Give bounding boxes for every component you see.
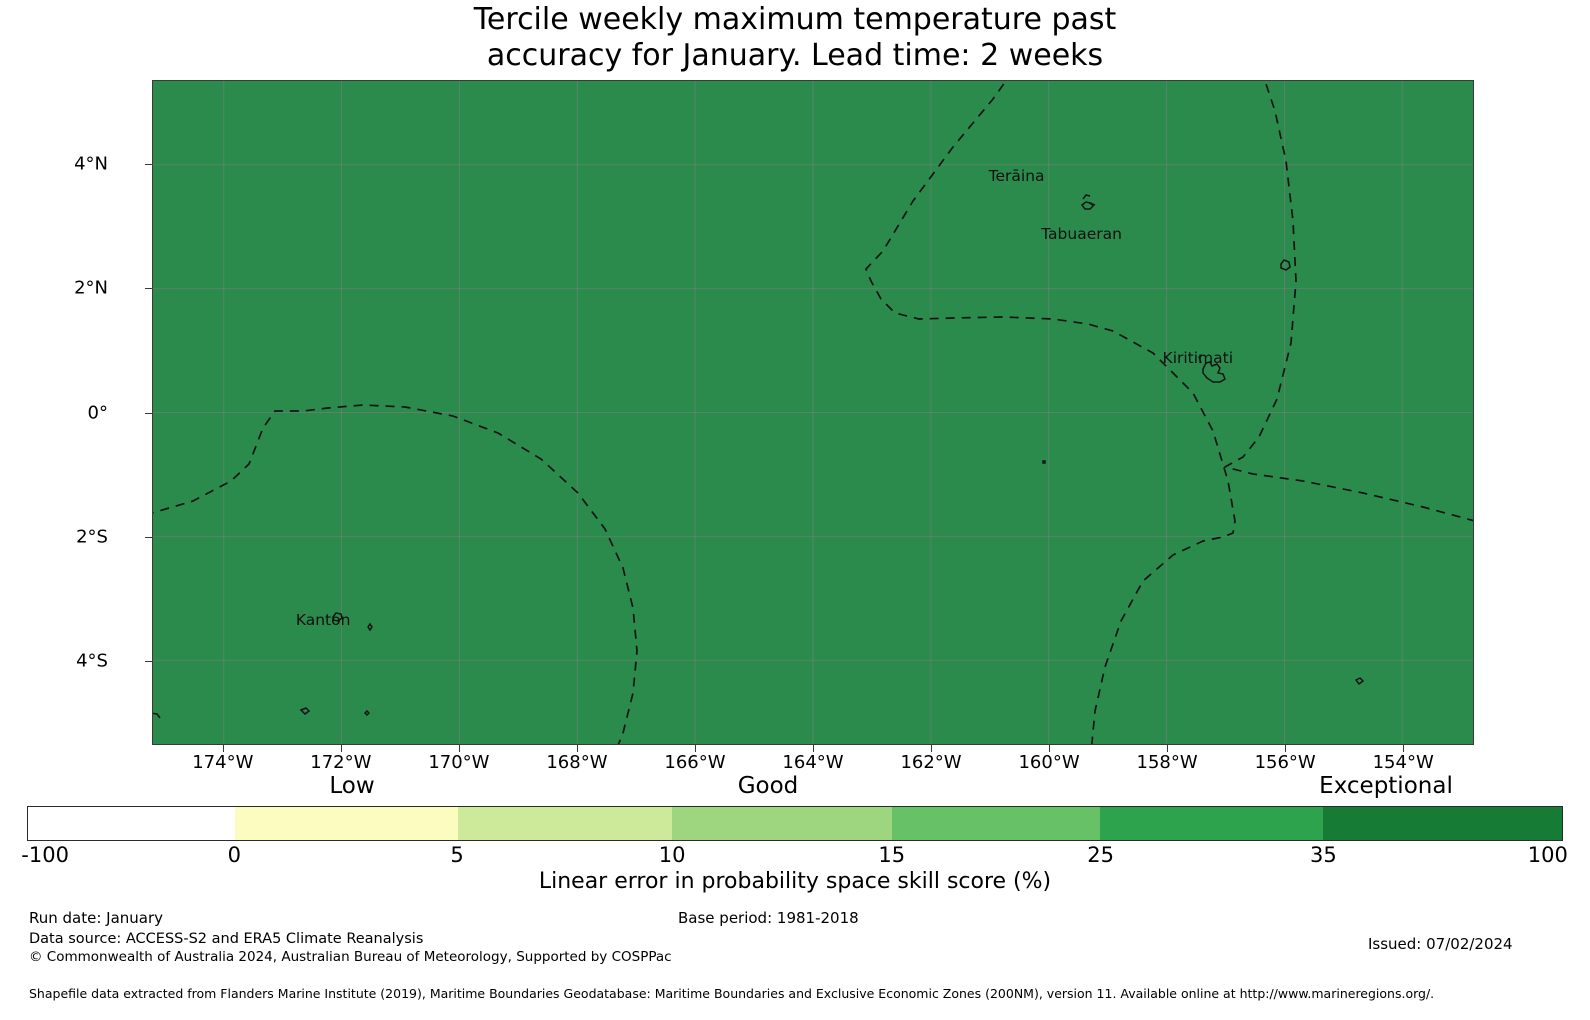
place-label: Kanton — [296, 611, 351, 629]
footer-data-source: Data source: ACCESS-S2 and ERA5 Climate … — [29, 931, 423, 947]
colorbar-segment[interactable] — [892, 807, 1101, 840]
colorbar-category-label: Low — [329, 773, 374, 799]
colorbar-segment[interactable] — [235, 807, 457, 840]
colorbar-tick-label: 25 — [1087, 843, 1114, 867]
colorbar-segment[interactable] — [672, 807, 891, 840]
footer-shapefile-attribution: Shapefile data extracted from Flanders M… — [29, 986, 1434, 1001]
x-tick-label: 158°W — [1107, 752, 1227, 773]
y-tick-mark — [145, 413, 152, 414]
y-tick-label: 4°N — [0, 153, 108, 174]
colorbar-category-label: Exceptional — [1319, 773, 1453, 799]
map-overlays — [153, 81, 1473, 744]
figure-canvas: Tercile weekly maximum temperature past … — [0, 0, 1590, 1020]
x-tick-label: 166°W — [635, 752, 755, 773]
colorbar-segment[interactable] — [1100, 807, 1322, 840]
x-tick-mark — [459, 745, 460, 752]
page-title: Tercile weekly maximum temperature past … — [0, 2, 1590, 74]
colorbar-segment[interactable] — [28, 807, 235, 840]
x-tick-mark — [223, 745, 224, 752]
x-tick-mark — [1167, 745, 1168, 752]
colorbar-tick-label: 5 — [450, 843, 463, 867]
colorbar-tick-label: -100 — [21, 843, 69, 867]
x-tick-mark — [341, 745, 342, 752]
y-tick-mark — [145, 164, 152, 165]
x-tick-label: 168°W — [517, 752, 637, 773]
colorbar-tick-label: 10 — [659, 843, 686, 867]
y-tick-mark — [145, 661, 152, 662]
footer-copyright: © Commonwealth of Australia 2024, Austra… — [29, 949, 672, 965]
x-tick-label: 164°W — [753, 752, 873, 773]
colorbar-tick-label: 0 — [228, 843, 241, 867]
y-tick-mark — [145, 537, 152, 538]
y-tick-label: 0° — [0, 402, 108, 423]
x-tick-mark — [931, 745, 932, 752]
footer-issued-date: Issued: 07/02/2024 — [1368, 935, 1513, 953]
x-tick-label: 154°W — [1343, 752, 1463, 773]
footer-run-date: Run date: January — [29, 909, 163, 927]
x-tick-mark — [695, 745, 696, 752]
y-tick-label: 2°N — [0, 278, 108, 299]
colorbar-tick-label: 35 — [1310, 843, 1337, 867]
y-tick-mark — [145, 288, 152, 289]
x-tick-label: 162°W — [871, 752, 991, 773]
x-tick-mark — [813, 745, 814, 752]
footer-base-period: Base period: 1981-2018 — [678, 909, 859, 927]
x-tick-label: 156°W — [1225, 752, 1345, 773]
place-label: Tabuaeran — [1041, 225, 1122, 243]
x-tick-label: 172°W — [281, 752, 401, 773]
colorbar-axis-title: Linear error in probability space skill … — [0, 869, 1590, 894]
colorbar-segment[interactable] — [1323, 807, 1562, 840]
y-tick-label: 4°S — [0, 651, 108, 672]
colorbar-tick-label: 15 — [878, 843, 905, 867]
x-tick-label: 160°W — [989, 752, 1109, 773]
x-tick-mark — [1049, 745, 1050, 752]
colorbar-segment[interactable] — [458, 807, 673, 840]
place-label: Terāina — [989, 167, 1045, 185]
map-axes — [152, 80, 1474, 745]
colorbar-category-label: Good — [738, 773, 799, 799]
place-label: Kiritimati — [1163, 349, 1234, 367]
colorbar[interactable] — [27, 806, 1563, 841]
x-tick-mark — [1403, 745, 1404, 752]
colorbar-tick-label: 100 — [1528, 843, 1568, 867]
y-tick-label: 2°S — [0, 526, 108, 547]
x-tick-label: 174°W — [163, 752, 283, 773]
x-tick-mark — [1285, 745, 1286, 752]
x-tick-mark — [577, 745, 578, 752]
x-tick-label: 170°W — [399, 752, 519, 773]
